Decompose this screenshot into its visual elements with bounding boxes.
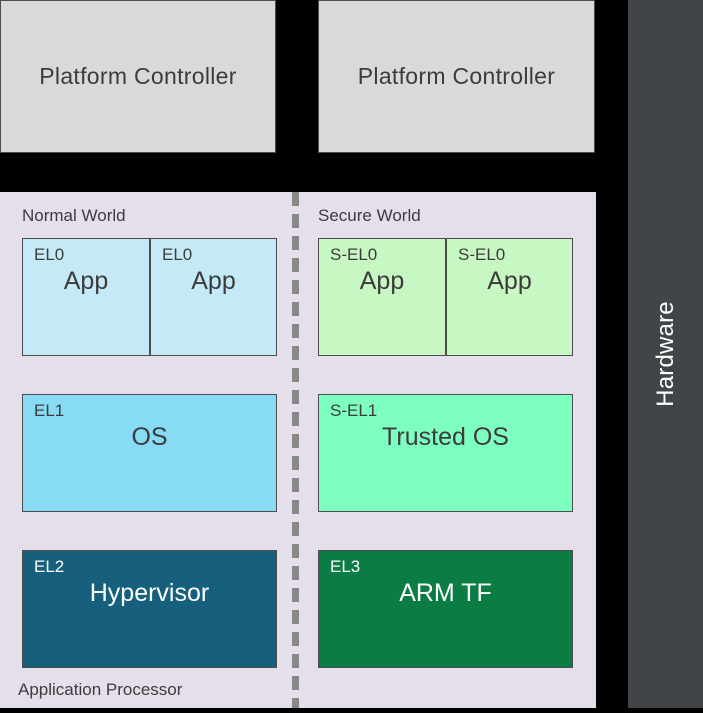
el-tag: EL0 [162,245,192,265]
el-box-secure-trusted-os: S-EL1 Trusted OS [318,394,573,512]
platform-controller-box-right: Platform Controller [318,0,595,153]
el-tag: S-EL0 [458,245,505,265]
application-processor-panel: Normal World Secure World EL0 App EL0 Ap… [0,192,596,708]
el-box-normal-app-1: EL0 App [150,238,277,356]
el-box-normal-app-0: EL0 App [22,238,150,356]
el-box-secure-app-0: S-EL0 App [318,238,446,356]
el-tag: S-EL1 [330,401,377,421]
el-box-normal-hypervisor: EL2 Hypervisor [22,550,277,668]
el-box-secure-app-1: S-EL0 App [446,238,573,356]
hardware-panel: Hardware [628,0,703,708]
secure-world-title: Secure World [318,206,421,226]
el-name: Trusted OS [319,423,572,452]
el-name: ARM TF [319,579,572,608]
el-tag: EL0 [34,245,64,265]
application-processor-label: Application Processor [18,680,182,700]
el-name: App [447,267,572,296]
el-tag: S-EL0 [330,245,377,265]
architecture-diagram: Platform Controller Platform Controller … [0,0,703,713]
platform-controller-label: Platform Controller [358,63,555,90]
platform-controller-box-left: Platform Controller [0,0,276,153]
el-tag: EL2 [34,557,64,577]
el-name: App [319,267,445,296]
el-box-normal-os: EL1 OS [22,394,277,512]
el-name: OS [23,423,276,452]
normal-world-title: Normal World [22,206,126,226]
el-name: Hypervisor [23,579,276,608]
el-name: App [23,267,149,296]
el-tag: EL1 [34,401,64,421]
el-tag: EL3 [330,557,360,577]
el-box-secure-arm-tf: EL3 ARM TF [318,550,573,668]
platform-controller-label: Platform Controller [39,63,236,90]
el-name: App [151,267,276,296]
world-divider-dashed-line [292,192,299,708]
hardware-label: Hardware [652,301,680,407]
